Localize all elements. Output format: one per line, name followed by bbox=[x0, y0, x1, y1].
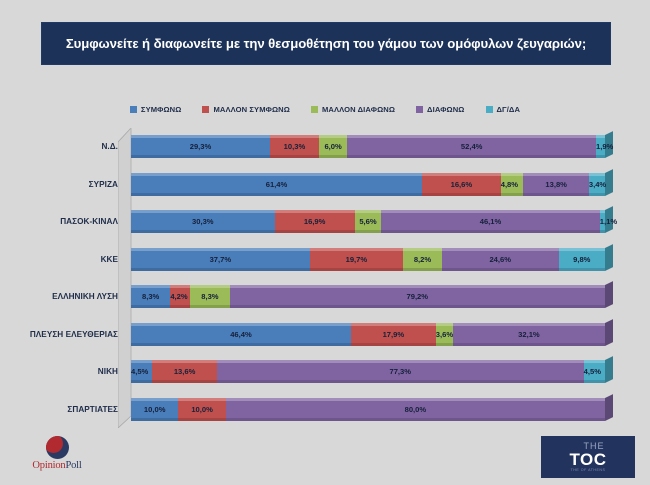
chart-row: ΣΠΑΡΤΙΑΤΕΣ10,0%10,0%80,0% bbox=[0, 391, 650, 429]
thetoc-line-tagline: THE OF ATHENS bbox=[571, 468, 606, 473]
chart-row: Ν.Δ.29,3%10,3%6,0%52,4%1,9% bbox=[0, 128, 650, 166]
legend-item-2[interactable]: ΜΑΛΛΟΝ ΣΥΜΦΩΝΩ bbox=[202, 105, 289, 114]
bar-value-label: 16,9% bbox=[304, 217, 326, 226]
stacked-bar: 8,3%4,2%8,3%79,2% bbox=[131, 285, 605, 308]
bar-value-label: 10,3% bbox=[284, 142, 306, 151]
bar-segment[interactable]: 37,7% bbox=[131, 248, 310, 271]
chart-page: Συμφωνείτε ή διαφωνείτε με την θεσμοθέτη… bbox=[0, 0, 650, 485]
bar-segment[interactable]: 4,8% bbox=[501, 173, 524, 196]
chart-legend: ΣΥΜΦΩΝΩΜΑΛΛΟΝ ΣΥΜΦΩΝΩΜΑΛΛΟΝ ΔΙΑΦΩΝΩΔΙΑΦΩ… bbox=[0, 105, 650, 114]
legend-swatch-icon bbox=[202, 106, 209, 113]
bar-segment[interactable]: 32,1% bbox=[453, 323, 605, 346]
bar-segment[interactable]: 13,6% bbox=[152, 360, 217, 383]
bar-value-label: 1,9% bbox=[596, 142, 613, 151]
legend-swatch-icon bbox=[311, 106, 318, 113]
bar-value-label: 8,3% bbox=[142, 292, 159, 301]
bar-segment[interactable]: 4,5% bbox=[131, 360, 152, 383]
bar-segment[interactable]: 9,8% bbox=[559, 248, 605, 271]
legend-label: ΜΑΛΛΟΝ ΣΥΜΦΩΝΩ bbox=[213, 105, 289, 114]
bar-segment[interactable]: 3,6% bbox=[436, 323, 453, 346]
opinionpoll-logo: OpinionPoll bbox=[17, 436, 97, 480]
bar-value-label: 17,9% bbox=[383, 330, 405, 339]
bar-value-label: 10,0% bbox=[191, 405, 213, 414]
bar-value-label: 6,0% bbox=[324, 142, 341, 151]
bar-value-label: 5,6% bbox=[359, 217, 376, 226]
bar-value-label: 37,7% bbox=[210, 255, 232, 264]
bar-value-label: 13,8% bbox=[545, 180, 567, 189]
bar-value-label: 4,8% bbox=[501, 180, 518, 189]
legend-item-4[interactable]: ΔΙΑΦΩΝΩ bbox=[416, 105, 464, 114]
bar-segment[interactable]: 80,0% bbox=[226, 398, 605, 421]
bar-value-label: 3,6% bbox=[436, 330, 453, 339]
category-label: ΚΚΕ bbox=[10, 255, 118, 264]
bar-segment[interactable]: 16,6% bbox=[422, 173, 501, 196]
bar-value-label: 16,6% bbox=[451, 180, 473, 189]
legend-label: ΔΙΑΦΩΝΩ bbox=[427, 105, 464, 114]
category-label: ΝΙΚΗ bbox=[10, 367, 118, 376]
bar-value-label: 8,2% bbox=[414, 255, 431, 264]
thetoc-logo: THE TOC THE OF ATHENS bbox=[541, 436, 635, 478]
bar-value-label: 46,4% bbox=[230, 330, 252, 339]
chart-row: ΠΑΣΟΚ-ΚΙΝΑΛ30,3%16,9%5,6%46,1%1,1% bbox=[0, 203, 650, 241]
stacked-bar: 4,5%13,6%77,3%4,5% bbox=[131, 360, 605, 383]
legend-label: ΜΑΛΛΟΝ ΔΙΑΦΩΝΩ bbox=[322, 105, 395, 114]
stacked-bar: 61,4%16,6%4,8%13,8%3,4% bbox=[131, 173, 605, 196]
chart-row: ΕΛΛΗΝΙΚΗ ΛΥΣΗ8,3%4,2%8,3%79,2% bbox=[0, 278, 650, 316]
bar-segment[interactable]: 79,2% bbox=[230, 285, 605, 308]
legend-swatch-icon bbox=[130, 106, 137, 113]
bar-value-label: 13,6% bbox=[174, 367, 196, 376]
bar-segment[interactable]: 29,3% bbox=[131, 135, 270, 158]
opinionpoll-word-opinion: Opinion bbox=[32, 460, 65, 471]
bar-value-label: 80,0% bbox=[405, 405, 427, 414]
bar-end-cap bbox=[605, 356, 613, 383]
bar-segment[interactable]: 4,5% bbox=[584, 360, 605, 383]
bar-segment[interactable]: 5,6% bbox=[355, 210, 382, 233]
legend-label: ΔΓ/ΔΑ bbox=[497, 105, 521, 114]
bar-value-label: 8,3% bbox=[201, 292, 218, 301]
bar-value-label: 79,2% bbox=[407, 292, 429, 301]
legend-item-1[interactable]: ΣΥΜΦΩΝΩ bbox=[130, 105, 182, 114]
stacked-bar: 46,4%17,9%3,6%32,1% bbox=[131, 323, 605, 346]
bar-end-cap bbox=[605, 281, 613, 308]
bar-value-label: 4,2% bbox=[170, 292, 187, 301]
bar-value-label: 19,7% bbox=[346, 255, 368, 264]
bar-value-label: 4,5% bbox=[131, 367, 148, 376]
bar-value-label: 29,3% bbox=[190, 142, 212, 151]
bar-segment[interactable]: 6,0% bbox=[319, 135, 347, 158]
bar-segment[interactable]: 30,3% bbox=[131, 210, 275, 233]
bar-value-label: 9,8% bbox=[573, 255, 590, 264]
bar-segment[interactable]: 17,9% bbox=[351, 323, 436, 346]
stacked-bar: 10,0%10,0%80,0% bbox=[131, 398, 605, 421]
bar-segment[interactable]: 77,3% bbox=[217, 360, 584, 383]
category-label: ΣΥΡΙΖΑ bbox=[10, 180, 118, 189]
bar-end-cap bbox=[605, 394, 613, 421]
bar-segment[interactable]: 61,4% bbox=[131, 173, 422, 196]
category-label: ΠΑΣΟΚ-ΚΙΝΑΛ bbox=[10, 217, 118, 226]
legend-label: ΣΥΜΦΩΝΩ bbox=[141, 105, 182, 114]
bar-value-label: 46,1% bbox=[480, 217, 502, 226]
opinionpoll-wordmark: OpinionPoll bbox=[17, 460, 97, 471]
bar-value-label: 3,4% bbox=[589, 180, 606, 189]
bar-segment[interactable]: 46,1% bbox=[381, 210, 600, 233]
opinionpoll-mark-icon bbox=[46, 436, 69, 459]
stacked-bar: 29,3%10,3%6,0%52,4%1,9% bbox=[131, 135, 605, 158]
bar-segment[interactable]: 8,3% bbox=[131, 285, 170, 308]
bar-segment[interactable]: 46,4% bbox=[131, 323, 351, 346]
bar-segment[interactable]: 24,6% bbox=[442, 248, 559, 271]
stacked-bar: 30,3%16,9%5,6%46,1%1,1% bbox=[131, 210, 605, 233]
legend-swatch-icon bbox=[486, 106, 493, 113]
chart-row: ΣΥΡΙΖΑ61,4%16,6%4,8%13,8%3,4% bbox=[0, 166, 650, 204]
bar-segment[interactable]: 8,2% bbox=[403, 248, 442, 271]
page-title: Συμφωνείτε ή διαφωνείτε με την θεσμοθέτη… bbox=[66, 36, 586, 51]
bar-value-label: 24,6% bbox=[489, 255, 511, 264]
bar-value-label: 10,0% bbox=[144, 405, 166, 414]
bar-value-label: 30,3% bbox=[192, 217, 214, 226]
chart-row: ΚΚΕ37,7%19,7%8,2%24,6%9,8% bbox=[0, 241, 650, 279]
bar-segment[interactable]: 8,3% bbox=[190, 285, 229, 308]
bar-value-label: 1,1% bbox=[600, 217, 617, 226]
bar-segment[interactable]: 16,9% bbox=[275, 210, 355, 233]
bar-segment[interactable]: 13,8% bbox=[523, 173, 588, 196]
bar-value-label: 4,5% bbox=[584, 367, 601, 376]
bar-segment[interactable]: 3,4% bbox=[589, 173, 605, 196]
chart-row: ΠΛΕΥΣΗ ΕΛΕΥΘΕΡΙΑΣ46,4%17,9%3,6%32,1% bbox=[0, 316, 650, 354]
bar-segment[interactable]: 19,7% bbox=[310, 248, 403, 271]
bar-segment[interactable]: 52,4% bbox=[347, 135, 596, 158]
bar-end-cap bbox=[605, 319, 613, 346]
legend-item-5[interactable]: ΔΓ/ΔΑ bbox=[486, 105, 521, 114]
bar-value-label: 52,4% bbox=[461, 142, 483, 151]
chart-title-banner: Συμφωνείτε ή διαφωνείτε με την θεσμοθέτη… bbox=[41, 22, 611, 65]
bar-value-label: 61,4% bbox=[266, 180, 288, 189]
chart-row: ΝΙΚΗ4,5%13,6%77,3%4,5% bbox=[0, 353, 650, 391]
category-label: ΣΠΑΡΤΙΑΤΕΣ bbox=[10, 405, 118, 414]
bar-segment[interactable]: 10,0% bbox=[178, 398, 225, 421]
bar-value-label: 77,3% bbox=[389, 367, 411, 376]
bar-segment[interactable]: 10,0% bbox=[131, 398, 178, 421]
bar-value-label: 32,1% bbox=[518, 330, 540, 339]
category-label: ΠΛΕΥΣΗ ΕΛΕΥΘΕΡΙΑΣ bbox=[10, 330, 118, 339]
bar-segment[interactable]: 4,2% bbox=[170, 285, 190, 308]
bar-end-cap bbox=[605, 169, 613, 196]
category-label: ΕΛΛΗΝΙΚΗ ΛΥΣΗ bbox=[10, 292, 118, 301]
category-label: Ν.Δ. bbox=[10, 142, 118, 151]
opinionpoll-word-poll: Poll bbox=[65, 460, 81, 471]
chart-plot-area: Ν.Δ.29,3%10,3%6,0%52,4%1,9%ΣΥΡΙΖΑ61,4%16… bbox=[0, 128, 650, 428]
bar-end-cap bbox=[605, 244, 613, 271]
chart-rows: Ν.Δ.29,3%10,3%6,0%52,4%1,9%ΣΥΡΙΖΑ61,4%16… bbox=[0, 128, 650, 428]
legend-swatch-icon bbox=[416, 106, 423, 113]
thetoc-line-toc: TOC bbox=[569, 451, 606, 468]
legend-item-3[interactable]: ΜΑΛΛΟΝ ΔΙΑΦΩΝΩ bbox=[311, 105, 395, 114]
bar-segment[interactable]: 10,3% bbox=[270, 135, 319, 158]
stacked-bar: 37,7%19,7%8,2%24,6%9,8% bbox=[131, 248, 605, 271]
bar-segment[interactable]: 1,9% bbox=[596, 135, 605, 158]
